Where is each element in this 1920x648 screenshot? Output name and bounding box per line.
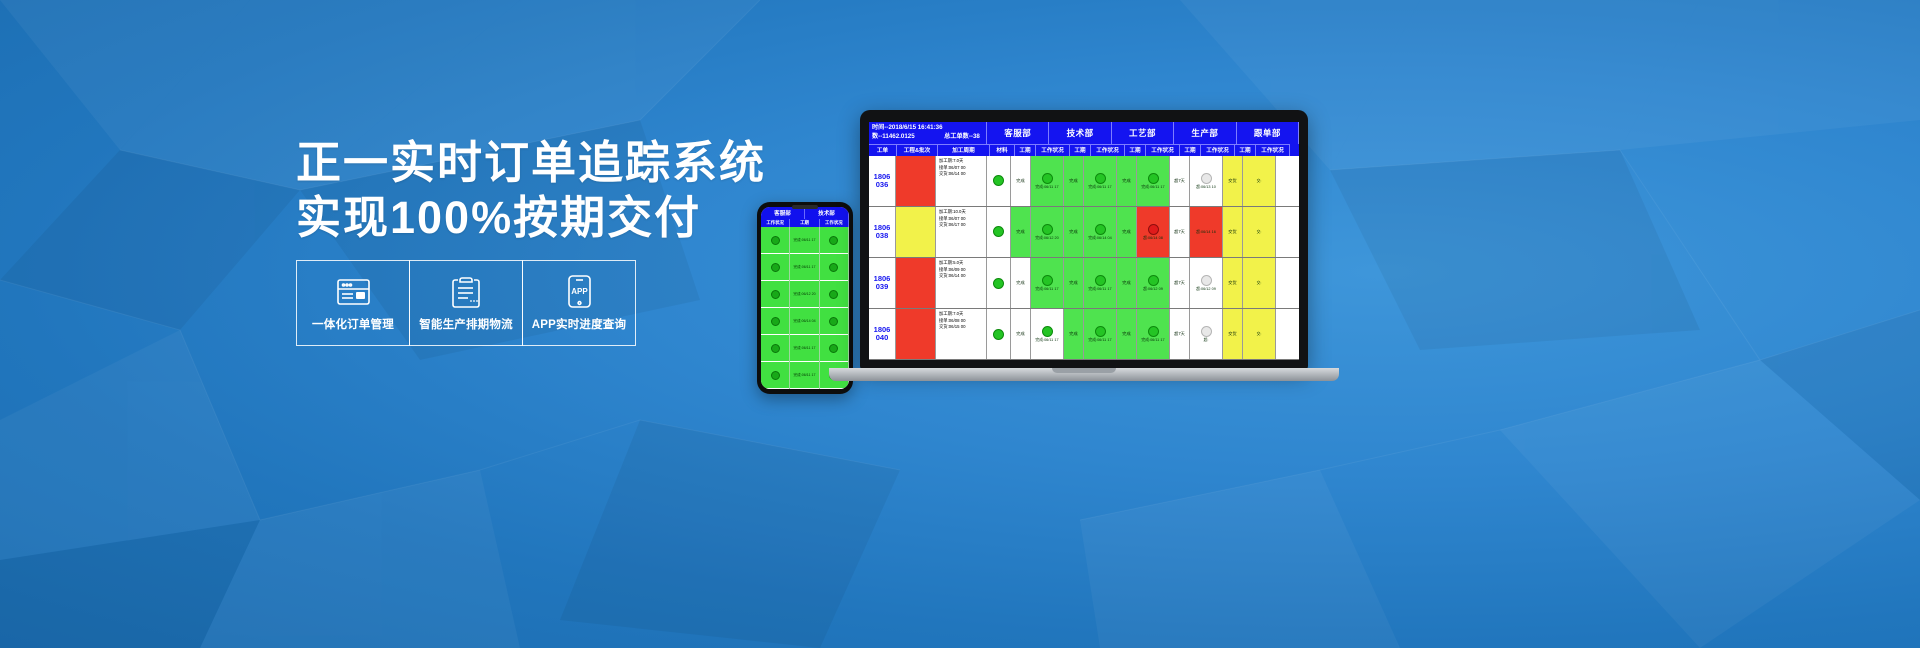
status-dot-green-icon — [829, 290, 838, 299]
status-dot-gray-icon — [1201, 326, 1212, 337]
work-order-cell: 1806038 — [869, 207, 896, 257]
status-note: 完成:06/11 17 — [1088, 185, 1111, 190]
laptop-lid: 时间--2018/6/15 16:41:36 数--11462.0125 总工单… — [860, 110, 1308, 370]
cycle-cell: 加工期:7.0天接单:06/08 00交货:06/15 00 — [936, 309, 987, 359]
status-dot-green-icon — [829, 344, 838, 353]
feature-card-production-scheduling[interactable]: 智能生产排期物流 — [409, 260, 523, 346]
col-term-tech: 工期 — [1070, 144, 1091, 156]
status-cell[interactable]: 超: — [1190, 309, 1223, 359]
headline-line-2: 实现100%按期交付 — [296, 191, 716, 246]
phone-status-cell[interactable] — [820, 335, 848, 362]
col-project-batch: 工程&批次 — [897, 144, 938, 156]
laptop-mockup: 时间--2018/6/15 16:41:36 数--11462.0125 总工单… — [860, 110, 1370, 440]
status-dot-green-icon — [1042, 173, 1053, 184]
material-cell — [987, 207, 1011, 257]
col-status-tech: 工作状况 — [1091, 144, 1125, 156]
status-dot-green-icon — [771, 371, 780, 380]
work-order-cell: 1806039 — [869, 258, 896, 308]
col-status-cs: 工作状况 — [1036, 144, 1070, 156]
term-cell: 超7天 — [1170, 309, 1190, 359]
cycle-cell: 加工期:5.0天接单:06/09 00交货:06/14 00 — [936, 258, 987, 308]
phone-subcolumn-header: 工作状况 工期 工作状况 — [761, 219, 849, 227]
status-dot-green-icon — [771, 317, 780, 326]
term-cell: 完成 — [1064, 258, 1084, 308]
headline-line-1: 正一实时订单追踪系统 — [296, 136, 716, 191]
mobile-app-icon: APP — [568, 275, 591, 309]
status-note: 完成:06/11 17 — [1035, 185, 1058, 190]
status-cell[interactable]: 完成:06/11 17 — [1137, 156, 1170, 206]
column-header-row: 工单 工程&批次 加工周期 材料 工期 工作状况 工期 工作状况 工期 工作状况… — [869, 144, 1299, 156]
laptop-base — [829, 368, 1339, 381]
phone-status-cell[interactable] — [761, 254, 789, 281]
term-cell: 完成 — [1011, 309, 1031, 359]
sheet-time-label: 时间--2018/6/15 16:41:36 — [872, 124, 983, 133]
phone-note-cell[interactable]: 完成:06/12 20 — [790, 281, 818, 308]
term-cell: 完成 — [1117, 258, 1137, 308]
phone-status-cell[interactable] — [820, 281, 848, 308]
department-customer-service: 客服部 — [987, 122, 1049, 144]
feature-label-order-management: 一体化订单管理 — [312, 316, 394, 332]
term-cell: 超7天 — [1170, 258, 1190, 308]
status-dot-green-icon — [993, 175, 1004, 186]
status-dot-green-icon — [993, 278, 1004, 289]
status-dot-green-icon — [1042, 224, 1053, 235]
department-production: 生产部 — [1174, 122, 1236, 144]
col-cycle: 加工周期 — [938, 144, 990, 156]
project-batch-cell — [896, 309, 936, 359]
project-batch-cell — [896, 156, 936, 206]
status-dot-green-icon — [1095, 224, 1106, 235]
phone-note-cell[interactable]: 完成:06/11 17 — [790, 227, 818, 254]
status-dot-green-icon — [771, 290, 780, 299]
department-process: 工艺部 — [1112, 122, 1174, 144]
status-cell[interactable]: 超:06/12 09 — [1137, 258, 1170, 308]
status-note: 完成:06/14 04 — [1088, 236, 1111, 241]
material-cell — [987, 156, 1011, 206]
status-cell[interactable]: 完成:06/11 17 — [1137, 309, 1170, 359]
term-cell: 完成 — [1064, 207, 1084, 257]
status-note: 交: — [1257, 230, 1262, 235]
col-term-cs: 工期 — [1015, 144, 1036, 156]
phone-dept-1: 技术部 — [805, 207, 849, 219]
table-row[interactable]: 1806038 加工期:10.0天接单:06/07 00交货:06/17 00完… — [869, 207, 1299, 258]
phone-mockup: 客服部 技术部 工作状况 工期 工作状况 — [757, 202, 853, 394]
department-merchandising: 跟单部 — [1237, 122, 1299, 144]
status-note: 完成:06/11 17 — [1035, 338, 1058, 343]
feature-label-app-progress: APP实时进度查询 — [532, 316, 626, 332]
material-cell — [987, 258, 1011, 308]
feature-card-app-progress[interactable]: APP APP实时进度查询 — [522, 260, 636, 346]
device-mockups: 客服部 技术部 工作状况 工期 工作状况 — [735, 110, 1375, 440]
phone-status-cell[interactable] — [761, 335, 789, 362]
department-header-row: 客服部 技术部 工艺部 生产部 跟单部 — [987, 122, 1299, 144]
col-term-production: 工期 — [1180, 144, 1201, 156]
term-cell: 超7天 — [1170, 156, 1190, 206]
status-cell[interactable]: 完成:06/14 04 — [1084, 207, 1117, 257]
col-status-production: 工作状况 — [1201, 144, 1235, 156]
status-note: 超:06/12 09 — [1143, 287, 1163, 292]
status-note: 超: — [1204, 338, 1209, 343]
term-cell: 完成 — [1117, 309, 1137, 359]
phone-status-cell[interactable] — [820, 227, 848, 254]
phone-subcol-1: 工期 — [790, 219, 819, 227]
status-cell[interactable]: 交: — [1243, 309, 1276, 359]
status-cell[interactable]: 超:06/14 08 — [1137, 207, 1170, 257]
status-cell[interactable]: 完成:06/11 17 — [1031, 156, 1064, 206]
term-cell: 完成 — [1117, 156, 1137, 206]
status-note: 完成:06/11 17 — [1035, 287, 1058, 292]
phone-subcol-0: 工作状况 — [761, 219, 790, 227]
phone-screen: 客服部 技术部 工作状况 工期 工作状况 — [761, 207, 849, 389]
status-dot-green-icon — [1148, 326, 1159, 337]
col-term-process: 工期 — [1125, 144, 1146, 156]
status-note: 完成:06/11 17 — [1088, 287, 1111, 292]
col-status-merch: 工作状况 — [1256, 144, 1290, 156]
status-dot-red-icon — [1148, 224, 1159, 235]
status-dot-green-icon — [1095, 275, 1106, 286]
term-cell: 交货 — [1223, 207, 1243, 257]
term-cell: 完成 — [1064, 309, 1084, 359]
phone-grid: 完成:06/11 17 完成:06/11 17 完成:06/12 20 完成:0… — [761, 227, 849, 389]
col-work-order: 工单 — [869, 144, 897, 156]
clipboard-icon — [452, 275, 480, 309]
term-cell: 交货 — [1223, 258, 1243, 308]
material-cell — [987, 309, 1011, 359]
status-note: 交: — [1257, 332, 1262, 337]
feature-label-production-scheduling: 智能生产排期物流 — [419, 316, 513, 332]
table-row[interactable]: 1806039 加工期:5.0天接单:06/09 00交货:06/14 00完成… — [869, 258, 1299, 309]
work-order-cell: 1806040 — [869, 309, 896, 359]
col-material: 材料 — [990, 144, 1015, 156]
status-dot-green-icon — [1095, 173, 1106, 184]
status-note: 完成:06/11 17 — [1088, 338, 1111, 343]
status-dot-green-icon — [771, 344, 780, 353]
status-dot-green-icon — [1148, 173, 1159, 184]
table-row[interactable]: 1806040 加工期:7.0天接单:06/08 00交货:06/15 00完成… — [869, 309, 1299, 360]
feature-card-order-management[interactable]: 一体化订单管理 — [296, 260, 410, 346]
id-card-icon — [337, 275, 370, 309]
phone-status-cell[interactable] — [761, 308, 789, 335]
headline-block: 正一实时订单追踪系统 实现100%按期交付 — [296, 136, 716, 246]
phone-status-cell[interactable] — [761, 362, 789, 389]
term-cell: 完成 — [1011, 156, 1031, 206]
sheet-number-label: 数--11462.0125 — [872, 133, 915, 140]
phone-subcol-2: 工作状况 — [820, 219, 849, 227]
status-dot-gray-icon — [1201, 275, 1212, 286]
work-order-cell: 1806036 — [869, 156, 896, 206]
cycle-cell: 加工期:7.0天接单:06/07 00交货:06/14 00 — [936, 156, 987, 206]
phone-note-cell[interactable]: 完成:06/14 04 — [790, 308, 818, 335]
status-dot-green-icon — [993, 226, 1004, 237]
term-cell: 完成 — [1011, 207, 1031, 257]
phone-status-cell[interactable] — [761, 281, 789, 308]
status-note: 完成:06/11 17 — [1141, 185, 1164, 190]
status-cell[interactable]: 完成:06/12 20 — [1031, 207, 1064, 257]
status-cell[interactable]: 完成:06/11 17 — [1084, 156, 1117, 206]
status-cell[interactable]: 完成:06/11 17 — [1031, 309, 1064, 359]
term-cell: 交货 — [1223, 309, 1243, 359]
status-note: 超:06/14 08 — [1143, 236, 1163, 241]
app-icon-text: APP — [571, 287, 588, 296]
sheet-meta: 时间--2018/6/15 16:41:36 数--11462.0125 总工单… — [869, 122, 987, 144]
term-cell: 完成 — [1064, 156, 1084, 206]
status-dot-green-icon — [1042, 275, 1053, 286]
order-tracking-sheet: 时间--2018/6/15 16:41:36 数--11462.0125 总工单… — [869, 122, 1299, 360]
status-dot-green-icon — [771, 236, 780, 245]
phone-status-column-right — [820, 227, 849, 389]
order-rows: 1806036 加工期:7.0天接单:06/07 00交货:06/14 00完成… — [869, 156, 1299, 360]
status-dot-green-icon — [1042, 326, 1053, 337]
status-cell[interactable]: 交: — [1243, 207, 1276, 257]
term-cell: 超7天 — [1170, 207, 1190, 257]
col-term-merch: 工期 — [1235, 144, 1256, 156]
status-dot-gray-icon — [1201, 173, 1212, 184]
status-dot-green-icon — [829, 236, 838, 245]
status-cell[interactable]: 超:06/12 09 — [1190, 258, 1223, 308]
phone-note-cell[interactable]: 完成:06/11 17 — [790, 254, 818, 281]
phone-note-column-mid: 完成:06/11 17 完成:06/11 17 完成:06/12 20 完成:0… — [790, 227, 819, 389]
sheet-header: 时间--2018/6/15 16:41:36 数--11462.0125 总工单… — [869, 122, 1299, 144]
sheet-total-label: 总工单数--38 — [944, 133, 980, 140]
phone-status-cell[interactable] — [761, 227, 789, 254]
phone-status-column-left — [761, 227, 790, 389]
phone-status-cell[interactable] — [820, 254, 848, 281]
status-dot-green-icon — [1095, 326, 1106, 337]
status-dot-green-icon — [993, 329, 1004, 340]
laptop-screen: 时间--2018/6/15 16:41:36 数--11462.0125 总工单… — [869, 122, 1299, 360]
department-technical: 技术部 — [1049, 122, 1111, 144]
status-cell[interactable]: 超:06/13 10 — [1190, 156, 1223, 206]
sheet-number-and-total: 数--11462.0125 总工单数--38 — [872, 133, 983, 142]
status-cell[interactable]: 交: — [1243, 258, 1276, 308]
term-cell: 完成 — [1011, 258, 1031, 308]
col-status-process: 工作状况 — [1146, 144, 1180, 156]
status-dot-green-icon — [1148, 275, 1159, 286]
term-cell: 完成 — [1117, 207, 1137, 257]
phone-department-header: 客服部 技术部 — [761, 207, 849, 219]
status-cell[interactable]: 超:06/14 16 — [1190, 207, 1223, 257]
feature-list: 一体化订单管理 智能生产排期物流 — [296, 260, 636, 346]
status-dot-green-icon — [829, 317, 838, 326]
status-cell[interactable]: 交: — [1243, 156, 1276, 206]
project-batch-cell — [896, 207, 936, 257]
status-dot-green-icon — [771, 263, 780, 272]
status-dot-green-icon — [829, 263, 838, 272]
status-note: 交: — [1257, 281, 1262, 286]
term-cell: 交货 — [1223, 156, 1243, 206]
status-note: 超:06/13 10 — [1196, 185, 1216, 190]
status-note: 超:06/12 09 — [1196, 287, 1216, 292]
table-row[interactable]: 1806036 加工期:7.0天接单:06/07 00交货:06/14 00完成… — [869, 156, 1299, 207]
status-cell[interactable]: 完成:06/11 17 — [1084, 258, 1117, 308]
status-note: 完成:06/12 20 — [1035, 236, 1058, 241]
phone-note-cell[interactable]: 完成:06/11 17 — [790, 335, 818, 362]
status-note: 交: — [1257, 179, 1262, 184]
status-cell[interactable]: 完成:06/11 17 — [1031, 258, 1064, 308]
phone-dept-0: 客服部 — [761, 207, 805, 219]
status-note: 超:06/14 16 — [1196, 230, 1216, 235]
phone-status-cell[interactable] — [820, 308, 848, 335]
promo-banner: 正一实时订单追踪系统 实现100%按期交付 一体化订单管理 — [0, 0, 1920, 648]
phone-note-cell[interactable]: 完成:06/11 17 — [790, 362, 818, 389]
status-cell[interactable]: 完成:06/11 17 — [1084, 309, 1117, 359]
project-batch-cell — [896, 258, 936, 308]
cycle-cell: 加工期:10.0天接单:06/07 00交货:06/17 00 — [936, 207, 987, 257]
status-note: 完成:06/11 17 — [1141, 338, 1164, 343]
